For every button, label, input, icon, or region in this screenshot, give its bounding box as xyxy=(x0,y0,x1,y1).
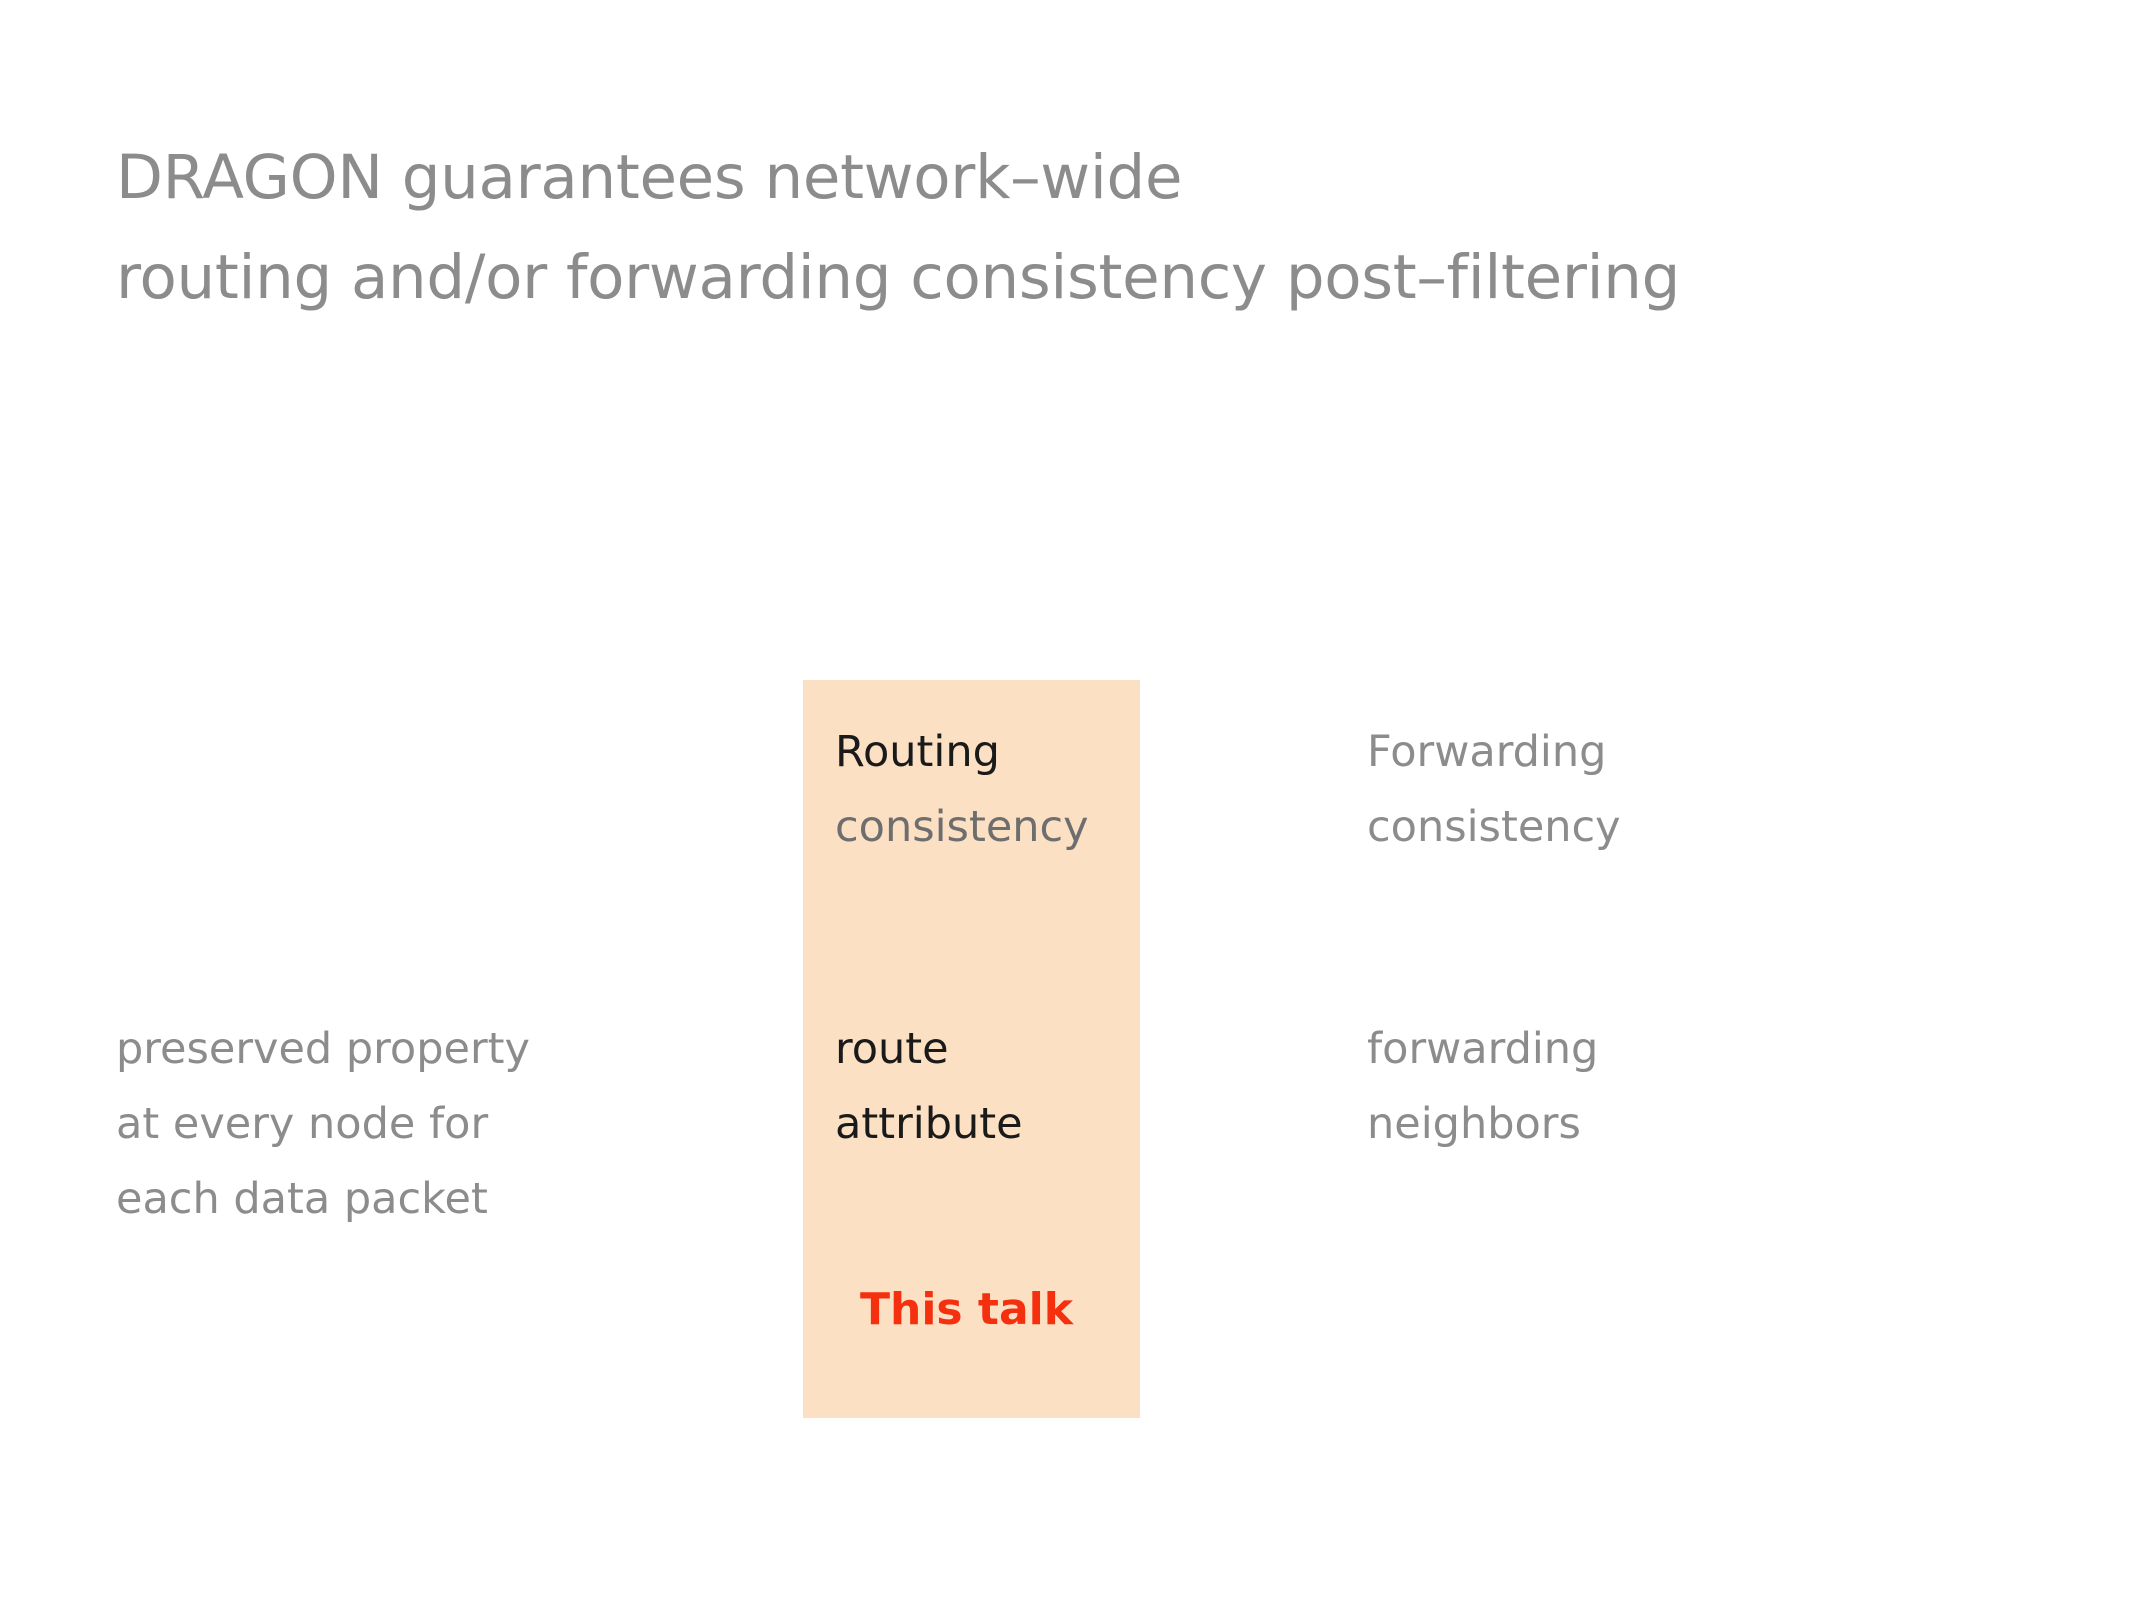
slide-title: DRAGON guarantees network–wide routing a… xyxy=(116,128,1996,328)
slide-canvas: DRAGON guarantees network–wide routing a… xyxy=(0,0,2134,1600)
definition-line-1: preserved property xyxy=(116,1012,716,1087)
forwarding-consistency-heading: Forwarding xyxy=(1367,715,1927,790)
routing-consistency-subheading: consistency xyxy=(835,790,1135,865)
definition-line-3: each data packet xyxy=(116,1162,716,1237)
forwarding-property-line-2: neighbors xyxy=(1367,1087,1927,1162)
definition-line-2: at every node for xyxy=(116,1087,716,1162)
routing-property-line-2: attribute xyxy=(835,1087,1135,1162)
forwarding-consistency-subheading: consistency xyxy=(1367,790,1927,865)
routing-consistency-heading: Routing xyxy=(835,715,1135,790)
this-talk-badge: This talk xyxy=(860,1272,1073,1347)
title-line-1: DRAGON guarantees network–wide xyxy=(116,128,1996,228)
forwarding-property-line-1: forwarding xyxy=(1367,1012,1927,1087)
routing-property-line-1: route xyxy=(835,1012,1135,1087)
title-line-2: routing and/or forwarding consistency po… xyxy=(116,228,1996,328)
